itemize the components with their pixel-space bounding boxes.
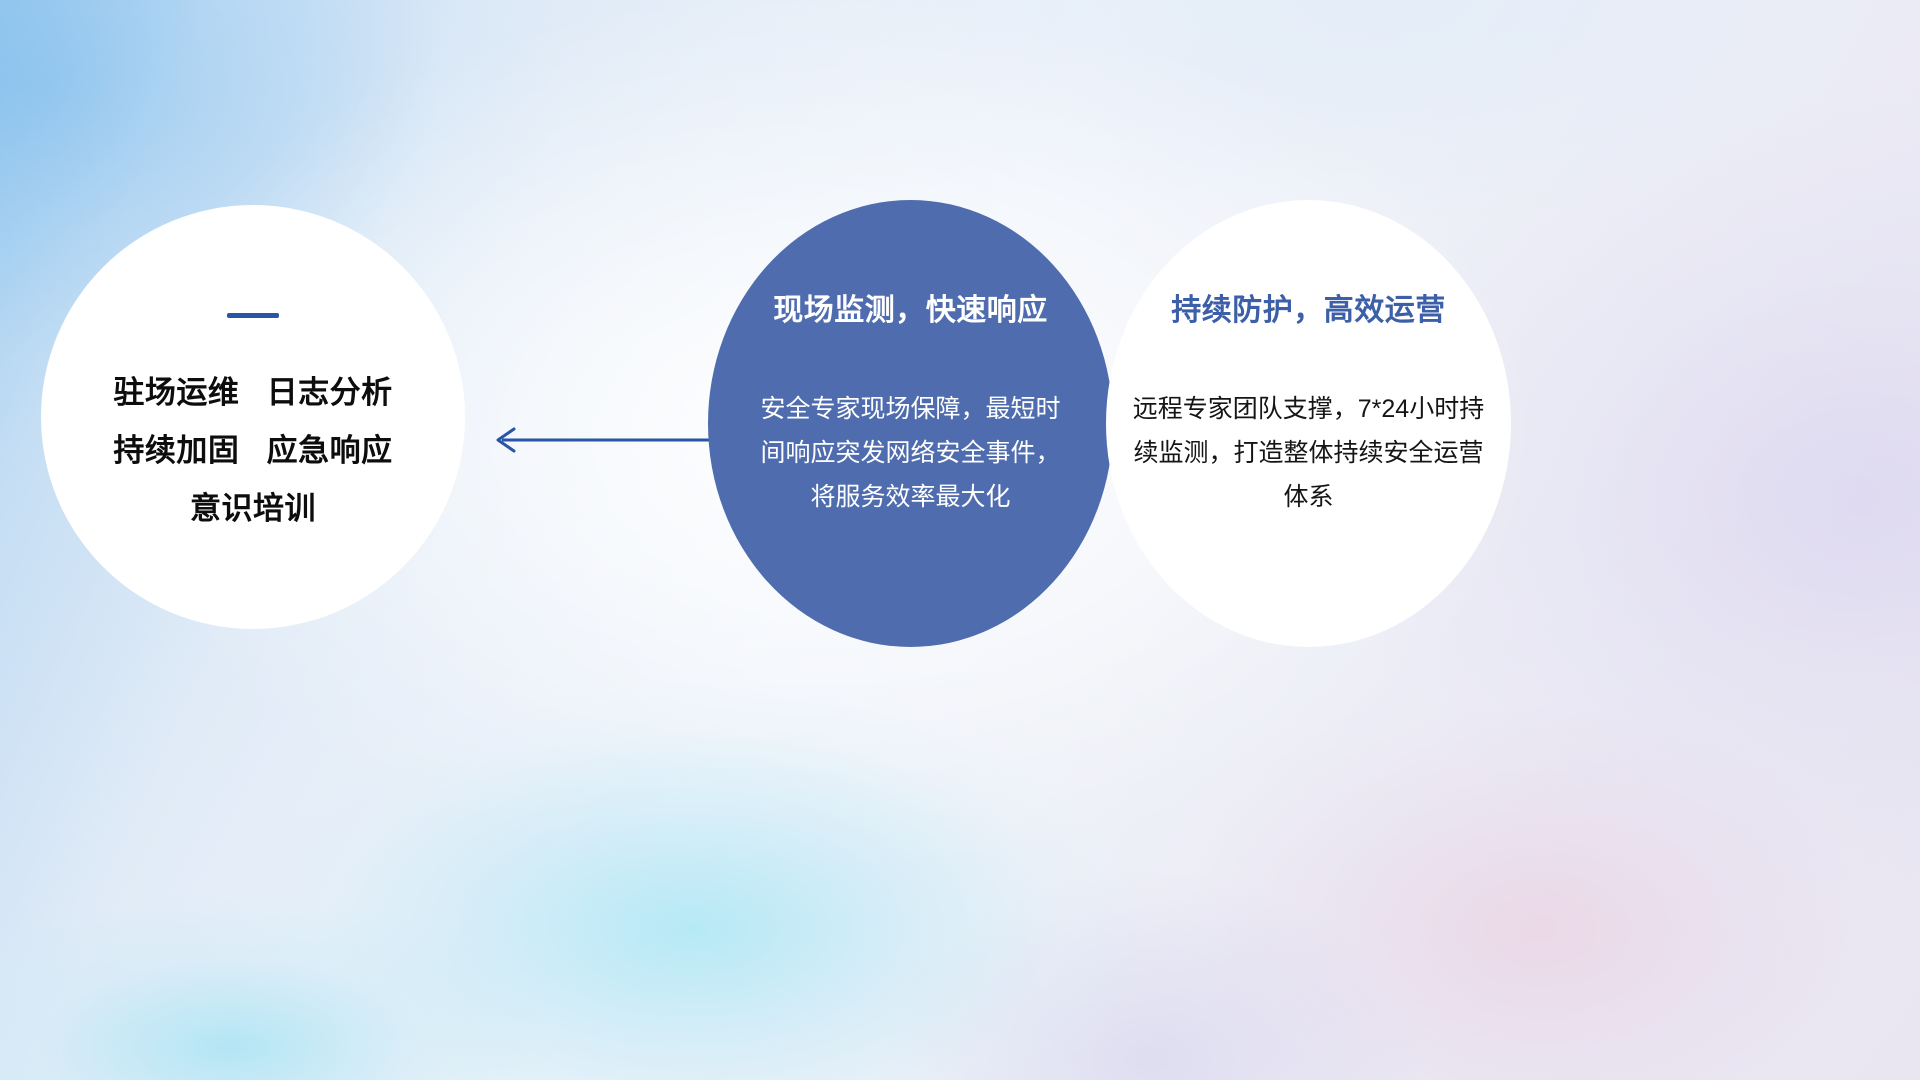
middle-circle-title: 现场监测，快速响应: [773, 285, 1048, 329]
middle-circle-body-text: 安全专家现场保障，最短时间响应突发网络安全事件，将服务效率最大化: [761, 387, 1061, 519]
accent-dash-divider: [227, 313, 279, 318]
connector-arrow-icon: [480, 415, 720, 465]
keyword-line-3: 意识培训: [113, 480, 392, 538]
left-keywords-list: 驻场运维 日志分析 持续加固 应急响应 意识培训: [113, 364, 392, 538]
slide-canvas: 驻场运维 日志分析 持续加固 应急响应 意识培训 现场监测，快速响应 安全专家现…: [0, 0, 1920, 1080]
middle-onsite-monitoring-circle[interactable]: 现场监测，快速响应 安全专家现场保障，最短时间响应突发网络安全事件，将服务效率最…: [708, 200, 1113, 647]
right-circle-body-text: 远程专家团队支撑，7*24小时持续监测，打造整体持续安全运营体系: [1131, 387, 1486, 519]
right-circle-title: 持续防护，高效运营: [1171, 285, 1446, 329]
keyword-line-1: 驻场运维 日志分析: [113, 364, 392, 422]
keyword-line-2: 持续加固 应急响应: [113, 422, 392, 480]
right-continuous-protection-circle[interactable]: 持续防护，高效运营 远程专家团队支撑，7*24小时持续监测，打造整体持续安全运营…: [1106, 200, 1511, 647]
left-keywords-circle[interactable]: 驻场运维 日志分析 持续加固 应急响应 意识培训: [41, 205, 465, 629]
